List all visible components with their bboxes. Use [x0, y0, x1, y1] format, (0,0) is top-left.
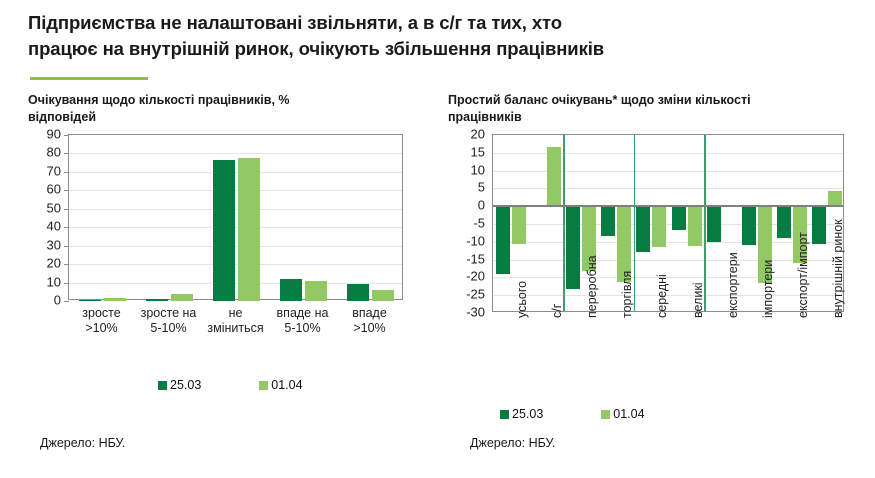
page-header: Підприємства не налаштовані звільняти, а… [28, 10, 858, 62]
right-y-tick-label: -15 [466, 251, 485, 266]
right-gridline [493, 188, 843, 189]
bar-25.03-0 [79, 300, 101, 301]
left-axis-tick [64, 283, 69, 284]
bar-01.04-2 [238, 158, 260, 301]
left-gridline [69, 264, 402, 265]
right-y-tick-label: -20 [466, 269, 485, 284]
left-y-tick-label: 80 [47, 145, 61, 160]
left-chart-legend: 25.03 01.04 [158, 378, 303, 392]
bar-25.03-2 [566, 206, 580, 289]
left-chart-subtitle: Очікування щодо кількості працівників, %… [28, 92, 438, 126]
legend-item-0104: 01.04 [259, 378, 302, 392]
x-label-4: впаде>10% [330, 306, 409, 336]
title-underline-rule [30, 77, 148, 80]
bar-01.04-9 [828, 191, 842, 206]
bar-25.03-3 [280, 279, 302, 301]
left-gridline [69, 153, 402, 154]
bar-25.03-0 [496, 206, 510, 274]
x-label-7: імпортери [761, 260, 775, 318]
x-label-8: експорт/імпорт [796, 232, 810, 318]
legend-item-0104: 01.04 [601, 407, 644, 421]
left-gridline [69, 283, 402, 284]
legend-swatch-0104-icon [259, 381, 268, 390]
legend-item-2503: 25.03 [500, 407, 543, 421]
group-separator-after-торгівля [634, 135, 636, 311]
left-subtitle-line1: Очікування щодо кількості працівників, % [28, 92, 438, 109]
bar-25.03-6 [707, 206, 721, 242]
legend-label-2503: 25.03 [512, 407, 543, 421]
bar-01.04-0 [104, 298, 126, 301]
left-y-tick-label: 90 [47, 127, 61, 142]
x-label-1: с/г [550, 304, 564, 318]
left-axis-tick [64, 227, 69, 228]
left-y-tick-label: 50 [47, 200, 61, 215]
left-y-tick-label: 40 [47, 219, 61, 234]
left-axis-tick [64, 153, 69, 154]
left-chart-panel: Очікування щодо кількості працівників, %… [28, 92, 438, 362]
right-y-tick-label: -10 [466, 233, 485, 248]
legend-swatch-0104-icon [601, 410, 610, 419]
left-axis-tick [64, 135, 69, 136]
left-y-tick-label: 60 [47, 182, 61, 197]
right-y-tick-label: -25 [466, 287, 485, 302]
right-y-tick-label: 15 [471, 144, 485, 159]
left-y-tick-label: 30 [47, 237, 61, 252]
left-axis-tick [64, 172, 69, 173]
page-title: Підприємства не налаштовані звільняти, а… [28, 10, 858, 62]
right-chart-subtitle: Простий баланс очікувань* щодо зміни кіл… [448, 92, 868, 126]
legend-label-0104: 01.04 [613, 407, 644, 421]
legend-label-2503: 25.03 [170, 378, 201, 392]
left-axis-tick [64, 209, 69, 210]
right-subtitle-line2: працівників [448, 109, 868, 126]
bar-01.04-5 [688, 206, 702, 246]
right-gridline [493, 153, 843, 154]
x-label-5: великі [691, 282, 705, 318]
right-subtitle-line1: Простий баланс очікувань* щодо зміни кіл… [448, 92, 868, 109]
right-y-tick-label: 0 [478, 198, 485, 213]
bar-01.04-1 [547, 147, 561, 206]
x-label-4: середні [655, 274, 669, 318]
bar-25.03-9 [812, 206, 826, 243]
bar-25.03-1 [146, 299, 168, 301]
left-y-tick-label: 70 [47, 163, 61, 178]
left-y-tick-label: 0 [54, 293, 61, 308]
right-gridline [493, 171, 843, 172]
group-separator-after-с/г [563, 135, 565, 311]
legend-swatch-2503-icon [158, 381, 167, 390]
left-gridline [69, 190, 402, 191]
left-subtitle-line2: відповідей [28, 109, 438, 126]
x-label-9: внутрішній ринок [831, 219, 845, 318]
page-title-line1: Підприємства не налаштовані звільняти, а… [28, 10, 858, 36]
right-y-tick-label: -30 [466, 305, 485, 320]
left-axis-tick [64, 301, 69, 302]
legend-label-0104: 01.04 [271, 378, 302, 392]
left-chart-source: Джерело: НБУ. [40, 436, 125, 450]
simple-balance-chart: 20151050-5-10-15-20-25-30усьогос/гпереро… [448, 126, 868, 374]
left-axis-tick [64, 246, 69, 247]
left-gridline [69, 172, 402, 173]
bar-25.03-4 [347, 284, 369, 301]
legend-item-2503: 25.03 [158, 378, 201, 392]
right-gridline [493, 260, 843, 261]
x-label-6: експортери [726, 252, 740, 318]
left-axis-tick [64, 190, 69, 191]
bar-25.03-2 [213, 160, 235, 301]
bar-25.03-4 [636, 206, 650, 252]
x-label-0: усього [515, 281, 529, 318]
left-gridline [69, 227, 402, 228]
page-title-line2: працює на внутрішній ринок, очікують збі… [28, 36, 858, 62]
right-chart-source: Джерело: НБУ. [470, 436, 555, 450]
left-y-tick-label: 10 [47, 274, 61, 289]
bar-01.04-4 [652, 206, 666, 247]
expectations-share-chart: 0102030405060708090зросте>10%зросте на5-… [28, 126, 428, 362]
bar-25.03-3 [601, 206, 615, 236]
right-y-tick-label: 5 [478, 180, 485, 195]
right-y-tick-label: -5 [473, 216, 485, 231]
right-chart-panel: Простий баланс очікувань* щодо зміни кіл… [448, 92, 868, 374]
right-gridline [493, 242, 843, 243]
legend-swatch-2503-icon [500, 410, 509, 419]
bar-01.04-0 [512, 206, 526, 244]
left-plot-area [68, 134, 403, 300]
right-chart-legend: 25.03 01.04 [500, 407, 645, 421]
bar-25.03-7 [742, 206, 756, 244]
bar-01.04-3 [305, 281, 327, 301]
left-y-tick-label: 20 [47, 256, 61, 271]
bar-25.03-5 [672, 206, 686, 230]
bar-25.03-8 [777, 206, 791, 237]
left-gridline [69, 209, 402, 210]
right-y-tick-label: 10 [471, 162, 485, 177]
right-zero-axis [493, 205, 843, 207]
left-gridline [69, 246, 402, 247]
right-y-tick-label: 20 [471, 127, 485, 142]
x-label-3: торгівля [620, 271, 634, 318]
x-label-2: переробна [585, 255, 599, 318]
bar-01.04-4 [372, 290, 394, 301]
bar-01.04-1 [171, 294, 193, 301]
left-axis-tick [64, 264, 69, 265]
